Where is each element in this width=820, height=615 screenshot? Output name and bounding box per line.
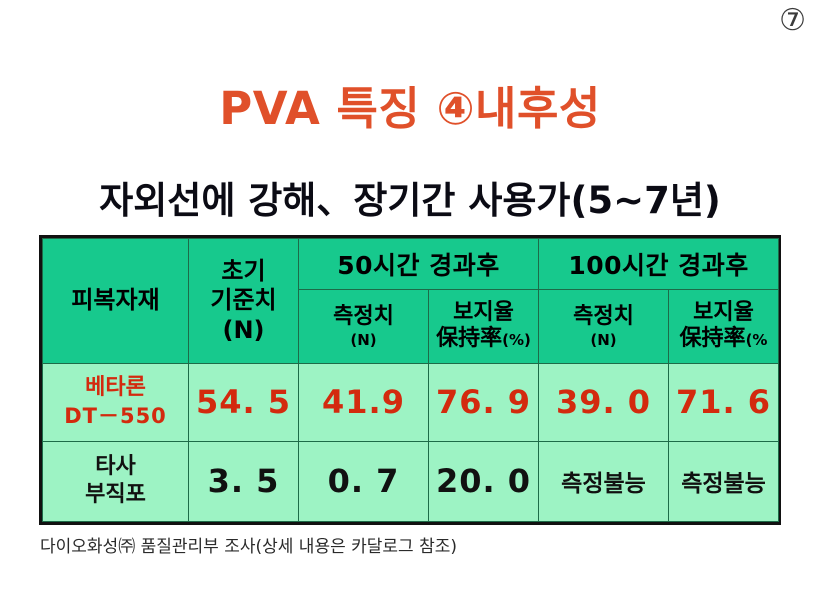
row2-material-line1: 타사 <box>45 453 186 482</box>
header-retention-50h-label2: 保持率(%) <box>431 326 536 352</box>
row1-material-line2: DT－550 <box>45 403 186 430</box>
header-material: 피복자재 <box>43 239 189 364</box>
header-initial-standard: 초기 기준치 (N) <box>189 239 299 364</box>
header-measured-100h: 측정치 (N) <box>539 289 669 363</box>
data-table: 피복자재 초기 기준치 (N) 50시간 경과후 100시간 경과후 측정치 (… <box>42 238 779 522</box>
row1-measured-50h: 41.9 <box>299 363 429 441</box>
row1-retention-100h: 71. 6 <box>669 363 779 441</box>
header-retention-50h-label: 보지율 <box>431 300 536 326</box>
header-retention-100h-label: 보지율 <box>671 300 776 326</box>
header-initial-line3: (N) <box>191 316 296 345</box>
row2-measured-100h: 측정불능 <box>539 441 669 521</box>
row2-retention-100h: 측정불능 <box>669 441 779 521</box>
header-measured-100h-unit: (N) <box>541 331 666 349</box>
header-group-100h: 100시간 경과후 <box>539 239 779 290</box>
row1-material-line1: 베타론 <box>45 374 186 403</box>
row1-material: 베타론 DT－550 <box>43 363 189 441</box>
page-title: PVA 특징 ④내후성 <box>0 72 820 137</box>
row2-material: 타사 부직포 <box>43 441 189 521</box>
row1-retention-50h: 76. 9 <box>429 363 539 441</box>
weather-resistance-table: 피복자재 초기 기준치 (N) 50시간 경과후 100시간 경과후 측정치 (… <box>39 235 781 525</box>
header-measured-50h: 측정치 (N) <box>299 289 429 363</box>
page-subtitle: 자외선에 강해、장기간 사용가(5~7년) <box>0 170 820 224</box>
header-retention-50h-unit: (%) <box>502 331 531 349</box>
row2-retention-50h: 20. 0 <box>429 441 539 521</box>
header-measured-50h-unit: (N) <box>301 331 426 349</box>
row1-initial: 54. 5 <box>189 363 299 441</box>
table-row: 타사 부직포 3. 5 0. 7 20. 0 측정불능 측정불능 <box>43 441 779 521</box>
row2-initial: 3. 5 <box>189 441 299 521</box>
footnote-source: 다이오화성㈜ 품질관리부 조사(상세 내용은 카달로그 참조) <box>40 532 457 557</box>
row2-material-line2: 부직포 <box>45 481 186 510</box>
header-measured-50h-label: 측정치 <box>301 304 426 330</box>
row1-measured-100h: 39. 0 <box>539 363 669 441</box>
header-group-50h: 50시간 경과후 <box>299 239 539 290</box>
header-retention-100h-unit: (% <box>746 331 768 349</box>
header-retention-50h: 보지율 保持率(%) <box>429 289 539 363</box>
header-retention-100h: 보지율 保持率(% <box>669 289 779 363</box>
row2-measured-50h: 0. 7 <box>299 441 429 521</box>
header-initial-line1: 초기 <box>191 257 296 286</box>
header-measured-100h-label: 측정치 <box>541 304 666 330</box>
header-retention-100h-label2: 保持率(% <box>671 326 776 352</box>
header-initial-line2: 기준치 <box>191 286 296 315</box>
table-row: 베타론 DT－550 54. 5 41.9 76. 9 39. 0 71. 6 <box>43 363 779 441</box>
table-header-row-1: 피복자재 초기 기준치 (N) 50시간 경과후 100시간 경과후 <box>43 239 779 290</box>
page-number-badge: ⑦ <box>779 6 806 36</box>
